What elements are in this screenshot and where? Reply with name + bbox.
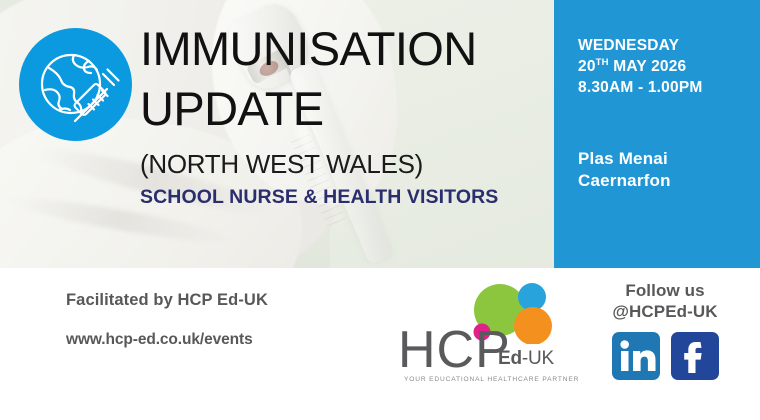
social-icon-row [580,332,750,380]
social-handle: @HCPEd-UK [580,301,750,322]
facebook-icon[interactable] [671,332,719,380]
linkedin-icon[interactable] [612,332,660,380]
venue-line-2: Caernarfon [578,170,671,192]
logo-sub-wordmark: Ed-UK [498,348,554,370]
hcp-ed-uk-logo: HCP Ed-UK YOUR EDUCATIONAL HEALTHCARE PA… [398,280,558,400]
event-time: 8.30AM - 1.00PM [578,78,750,99]
title-line-2: UPDATE [140,86,550,133]
event-day: WEDNESDAY [578,36,750,57]
event-date-number: 20 [578,58,596,75]
event-date-ordinal: TH [596,57,609,68]
region-subtitle: (NORTH WEST WALES) [140,149,550,180]
date-venue-panel: WEDNESDAY 20TH MAY 2026 8.30AM - 1.00PM … [554,0,760,268]
logo-sub-bold: Ed [498,348,522,369]
logo-tagline: YOUR EDUCATIONAL HEALTHCARE PARTNER [404,376,579,383]
footer-bar: Facilitated by HCP Ed-UK www.hcp-ed.co.u… [0,268,760,420]
follow-us-label: Follow us [580,280,750,301]
audience-subtitle: SCHOOL NURSE & HEALTH VISITORS [140,186,550,209]
event-date: 20TH MAY 2026 [578,57,750,78]
logo-wordmark: HCP [398,324,511,376]
globe-syringe-icon [19,28,132,141]
event-flyer: IMMUNISATION UPDATE (NORTH WEST WALES) S… [0,0,760,420]
website-link[interactable]: www.hcp-ed.co.uk/events [66,331,253,349]
event-date-month-year: MAY 2026 [613,58,686,75]
venue-line-1: Plas Menai [578,148,671,170]
social-block: Follow us @HCPEd-UK [580,280,750,380]
hero-banner: IMMUNISATION UPDATE (NORTH WEST WALES) S… [0,0,760,268]
facilitated-by-text: Facilitated by HCP Ed-UK [66,291,268,310]
venue-group: Plas Menai Caernarfon [578,148,671,193]
page-title: IMMUNISATION UPDATE [140,26,550,132]
headline-block: IMMUNISATION UPDATE (NORTH WEST WALES) S… [140,26,550,209]
logo-sub-rest: -UK [522,348,554,369]
title-line-1: IMMUNISATION [140,22,477,75]
date-time-group: WEDNESDAY 20TH MAY 2026 8.30AM - 1.00PM [578,36,750,98]
